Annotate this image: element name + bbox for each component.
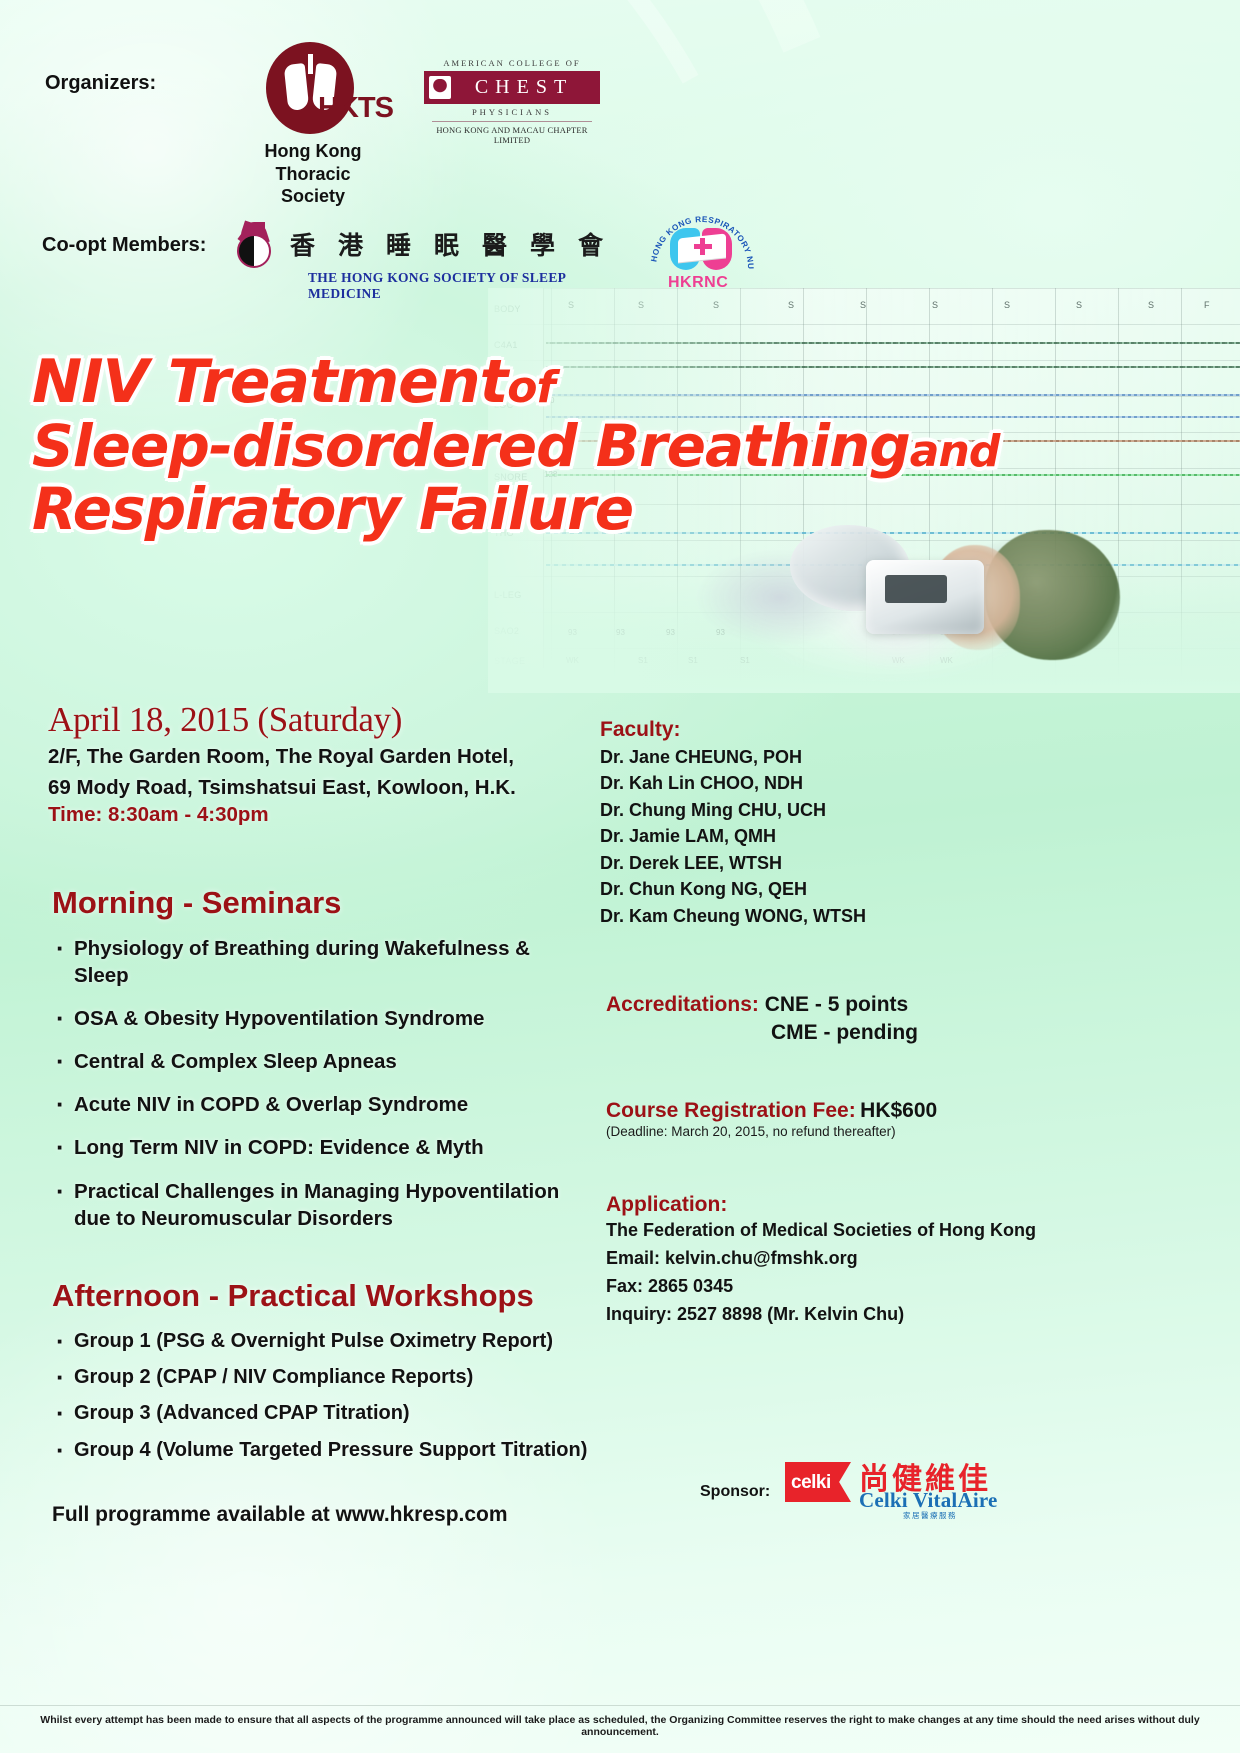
title-line-2: Sleep-disordered Breathingand	[32, 417, 1062, 476]
footer-divider	[0, 1705, 1240, 1706]
afternoon-workshops-list: Group 1 (PSG & Overnight Pulse Oximetry …	[52, 1328, 588, 1464]
celki-flag-icon: celki	[785, 1462, 851, 1502]
list-item: Group 3 (Advanced CPAP Titration)	[52, 1400, 588, 1426]
accp-logo: AMERICAN COLLEGE OF CHEST PHYSICIANS HON…	[424, 58, 600, 145]
morning-seminars-list: Physiology of Breathing during Wakefulne…	[52, 935, 588, 1231]
hkts-acronym: HKTS	[318, 92, 393, 125]
morning-heading: Morning - Seminars	[52, 885, 588, 921]
hkts-logo: HKTS Hong Kong Thoracic Society	[243, 42, 383, 208]
celki-vitalaire-logo: celki 尚健維佳 Celki VitalAire 家居醫療服務	[785, 1450, 1005, 1518]
niv-device-screen	[885, 575, 947, 603]
list-item: Acute NIV in COPD & Overlap Syndrome	[52, 1091, 588, 1118]
list-item: Practical Challenges in Managing Hypoven…	[52, 1178, 588, 1232]
coopt-members-label: Co-opt Members:	[42, 234, 206, 257]
disclaimer-text: Whilst every attempt has been made to en…	[0, 1714, 1240, 1738]
registration-fee-label: Course Registration Fee:	[606, 1099, 856, 1122]
list-item: Dr. Derek LEE, WTSH	[600, 850, 1160, 876]
list-item: Group 4 (Volume Targeted Pressure Suppor…	[52, 1437, 588, 1463]
list-item: Group 1 (PSG & Overnight Pulse Oximetry …	[52, 1328, 588, 1354]
list-item: Physiology of Breathing during Wakefulne…	[52, 935, 588, 989]
application-block: Application: The Federation of Medical S…	[606, 1193, 1160, 1329]
accp-chapter-text: HONG KONG AND MACAU CHAPTER LIMITED	[424, 125, 600, 145]
accp-divider	[432, 121, 592, 122]
hksm-yinyang-icon	[237, 234, 271, 268]
hkrnc-acronym: HKRNC	[668, 274, 728, 292]
hksm-flower-icon	[228, 224, 280, 276]
accp-top-text: AMERICAN COLLEGE OF	[424, 58, 600, 68]
accp-word: CHEST	[451, 76, 573, 99]
application-email[interactable]: Email: kelvin.chu@fmshk.org	[606, 1245, 1160, 1273]
event-date: April 18, 2015 (Saturday)	[48, 700, 588, 740]
faculty-heading: Faculty:	[600, 718, 1160, 742]
left-column: April 18, 2015 (Saturday) 2/F, The Garde…	[48, 700, 588, 1527]
list-item: Central & Complex Sleep Apneas	[52, 1048, 588, 1075]
list-item: OSA & Obesity Hypoventilation Syndrome	[52, 1005, 588, 1032]
accp-chest-icon	[429, 76, 451, 99]
accreditations-row1: Accreditations: CNE - 5 points	[606, 993, 1160, 1017]
title-line-1: NIV Treatmentof	[32, 352, 1062, 413]
list-item: Group 2 (CPAP / NIV Compliance Reports)	[52, 1364, 588, 1390]
accreditations-block: Accreditations: CNE - 5 points CME - pen…	[606, 993, 1160, 1045]
registration-fee-block: Course Registration Fee: HK$600 (Deadlin…	[606, 1099, 1160, 1139]
list-item: Dr. Jamie LAM, QMH	[600, 823, 1160, 849]
event-venue-line2: 69 Mody Road, Tsimshatsui East, Kowloon,…	[48, 773, 588, 802]
accreditations-cne: CNE - 5 points	[765, 993, 909, 1016]
right-column: Faculty: Dr. Jane CHEUNG, POH Dr. Kah Li…	[600, 718, 1160, 1329]
hksm-english-name: THE HONG KONG SOCIETY OF SLEEP MEDICINE	[308, 270, 628, 302]
registration-fee-row: Course Registration Fee: HK$600	[606, 1099, 1160, 1123]
celki-brand-mark: celki	[791, 1472, 831, 1494]
hksm-chinese-name: 香港睡眠醫學會	[290, 226, 626, 262]
list-item: Dr. Kah Lin CHOO, NDH	[600, 770, 1160, 796]
sponsor-label: Sponsor:	[700, 1483, 770, 1501]
accreditations-cme: CME - pending	[771, 1021, 1160, 1045]
application-organisation: The Federation of Medical Societies of H…	[606, 1217, 1160, 1245]
full-programme-note[interactable]: Full programme available at www.hkresp.c…	[52, 1503, 588, 1527]
event-time: Time: 8:30am - 4:30pm	[48, 803, 588, 827]
title-line-1-main: NIV Treatment	[32, 347, 507, 417]
list-item: Dr. Chung Ming CHU, UCH	[600, 797, 1160, 823]
accp-red-bar: CHEST	[424, 71, 600, 104]
registration-fee-note: (Deadline: March 20, 2015, no refund the…	[606, 1124, 1160, 1139]
list-item: Long Term NIV in COPD: Evidence & Myth	[52, 1134, 588, 1161]
title-line-3: Respiratory Failure	[32, 480, 1062, 539]
hkts-lung-icon: HKTS	[266, 42, 360, 136]
poster-canvas: BODY C4A1 LOC CHIN SNORE THO L-LEG SAO2 …	[0, 0, 1240, 1753]
faculty-list: Dr. Jane CHEUNG, POH Dr. Kah Lin CHOO, N…	[600, 744, 1160, 929]
celki-tagline: 家居醫療服務	[903, 1510, 957, 1521]
hkts-name-line1: Hong Kong	[243, 140, 383, 163]
accp-physicians-text: PHYSICIANS	[424, 107, 600, 117]
hkts-trachea-shape	[308, 54, 313, 74]
hkrnc-logo: HONG KONG RESPIRATORY NURSING COLLEGE HK…	[648, 198, 756, 296]
event-venue-line1: 2/F, The Garden Room, The Royal Garden H…	[48, 742, 588, 771]
list-item: Dr. Chun Kong NG, QEH	[600, 876, 1160, 902]
afternoon-heading: Afternoon - Practical Workshops	[52, 1278, 588, 1314]
hkts-name: Hong Kong Thoracic Society	[243, 140, 383, 208]
list-item: Dr. Kam Cheung WONG, WTSH	[600, 903, 1160, 929]
application-fax: Fax: 2865 0345	[606, 1273, 1160, 1301]
application-label: Application:	[606, 1193, 1160, 1217]
page-title: NIV Treatmentof Sleep-disordered Breathi…	[32, 352, 1062, 540]
organizers-label: Organizers:	[45, 72, 156, 95]
registration-fee-value: HK$600	[860, 1099, 937, 1122]
title-line-2-main: Sleep-disordered Breathing	[32, 412, 910, 480]
title-line-2-connector: and	[910, 426, 1000, 477]
title-line-1-connector: of	[507, 362, 554, 413]
application-inquiry: Inquiry: 2527 8898 (Mr. Kelvin Chu)	[606, 1301, 1160, 1329]
hkrnc-cross-icon-vertical	[700, 238, 705, 255]
accreditations-label: Accreditations:	[606, 993, 759, 1016]
hkts-name-line2: Thoracic Society	[243, 163, 383, 208]
list-item: Dr. Jane CHEUNG, POH	[600, 744, 1160, 770]
